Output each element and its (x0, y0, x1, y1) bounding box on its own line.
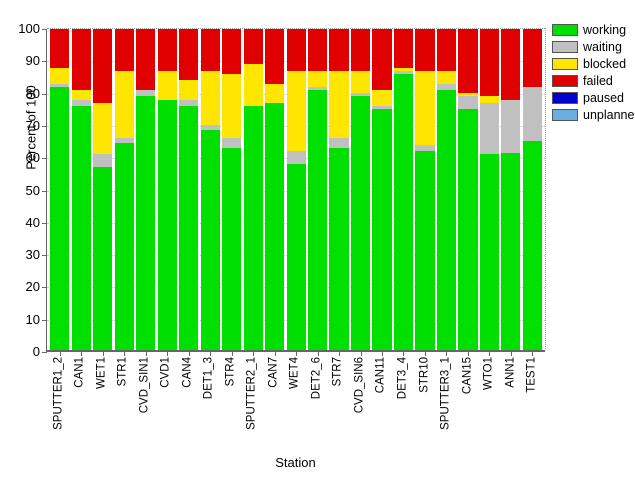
bar-column[interactable] (136, 29, 155, 350)
x-tick-label: WET4 (290, 357, 302, 389)
x-label-cell: WTO1 (480, 357, 499, 457)
x-label-cell: CAN4 (178, 357, 197, 457)
bar-segment-working (50, 87, 69, 350)
bar-segment-working (437, 90, 456, 350)
legend-item-unplanned[interactable]: unplanned (552, 107, 635, 122)
stacked-bar-chart: Percent of 100 0102030405060708090100 SP… (0, 0, 635, 480)
legend: workingwaitingblockedfailedpausedunplann… (552, 22, 635, 122)
bar-column[interactable] (480, 29, 499, 350)
legend-swatch-blocked (552, 58, 578, 70)
bar-segment-blocked (351, 71, 370, 93)
bar-segment-waiting (222, 138, 241, 148)
bar-segment-blocked (50, 68, 69, 85)
bar-segment-failed (437, 29, 456, 71)
x-tick-label: DET2_6 (311, 357, 323, 399)
y-tick-label: 30 (0, 248, 40, 261)
bar-column[interactable] (372, 29, 391, 350)
y-tick-label: 10 (0, 313, 40, 326)
bar-segment-failed (179, 29, 198, 80)
x-label-cell: CVD_SIN6 (350, 357, 369, 457)
x-tick-label: CAN4 (182, 357, 194, 388)
bar-segment-blocked (372, 90, 391, 106)
bar-group (47, 29, 545, 350)
legend-label-failed: failed (583, 74, 613, 88)
bar-column[interactable] (501, 29, 520, 350)
x-tick-label: TEST1 (526, 357, 538, 393)
legend-item-waiting[interactable]: waiting (552, 39, 635, 54)
bar-column[interactable] (158, 29, 177, 350)
x-tick-label: CAN7 (268, 357, 280, 388)
bar-segment-failed (115, 29, 134, 71)
x-label-cell: STR7 (329, 357, 348, 457)
y-tick-label: 80 (0, 87, 40, 100)
bar-segment-failed (265, 29, 284, 84)
x-label-cell: TEST1 (523, 357, 542, 457)
x-tick-mark (511, 351, 512, 356)
bar-segment-failed (523, 29, 542, 87)
x-tick-mark (167, 351, 168, 356)
bar-segment-working (136, 96, 155, 350)
bar-segment-working (480, 154, 499, 350)
x-tick-label: DET3_4 (397, 357, 409, 399)
bar-segment-blocked (265, 84, 284, 103)
bar-segment-working (523, 141, 542, 350)
x-tick-mark (489, 351, 490, 356)
x-tick-mark (146, 351, 147, 356)
bar-segment-blocked (179, 80, 198, 99)
x-tick-mark (81, 351, 82, 356)
x-label-cell: WET1 (92, 357, 111, 457)
x-tick-mark (232, 351, 233, 356)
x-label-cell: DET1_3 (200, 357, 219, 457)
y-tick-label: 50 (0, 184, 40, 197)
bar-column[interactable] (394, 29, 413, 350)
bar-segment-working (201, 130, 220, 350)
x-tick-label: STR10 (419, 357, 431, 393)
x-tick-label: STR4 (225, 357, 237, 386)
legend-swatch-unplanned (552, 109, 578, 121)
bar-column[interactable] (93, 29, 112, 350)
bar-column[interactable] (115, 29, 134, 350)
x-tick-label: CVD1 (161, 357, 173, 388)
plot-area (46, 29, 545, 352)
bar-segment-waiting (458, 96, 477, 109)
bar-segment-failed (415, 29, 434, 71)
bar-segment-blocked (329, 71, 348, 138)
bar-segment-waiting (329, 138, 348, 148)
legend-label-unplanned: unplanned (583, 108, 635, 122)
x-label-cell: DET3_4 (393, 357, 412, 457)
bar-column[interactable] (244, 29, 263, 350)
bar-column[interactable] (523, 29, 542, 350)
legend-item-working[interactable]: working (552, 22, 635, 37)
bar-segment-working (93, 167, 112, 350)
bar-segment-blocked (93, 103, 112, 154)
bar-column[interactable] (179, 29, 198, 350)
x-tick-label: ANN1 (505, 357, 517, 388)
x-label-cell: CAN7 (264, 357, 283, 457)
bar-segment-blocked (415, 71, 434, 145)
x-label-cell: SPUTTER3_1 (436, 357, 455, 457)
legend-item-failed[interactable]: failed (552, 73, 635, 88)
x-tick-label: SPUTTER1_2 (53, 357, 65, 430)
legend-label-blocked: blocked (583, 57, 626, 71)
x-tick-mark (532, 351, 533, 356)
bar-segment-waiting (93, 154, 112, 167)
x-tick-label: CAN1 (75, 357, 87, 388)
bar-segment-blocked (158, 71, 177, 100)
bar-column[interactable] (50, 29, 69, 350)
bar-segment-working (179, 106, 198, 350)
x-tick-mark (210, 351, 211, 356)
bar-column[interactable] (287, 29, 306, 350)
legend-label-paused: paused (583, 91, 624, 105)
bar-segment-working (308, 90, 327, 350)
bar-segment-working (458, 109, 477, 350)
bar-segment-failed (244, 29, 263, 64)
bar-column[interactable] (308, 29, 327, 350)
bar-segment-failed (351, 29, 370, 71)
bar-segment-failed (222, 29, 241, 74)
bar-segment-working (115, 143, 134, 350)
bar-segment-failed (201, 29, 220, 71)
legend-label-waiting: waiting (583, 40, 622, 54)
x-label-cell: CAN1 (71, 357, 90, 457)
y-tick-label: 40 (0, 216, 40, 229)
bar-segment-failed (501, 29, 520, 100)
bar-column[interactable] (415, 29, 434, 350)
x-label-cell: SPUTTER1_2 (49, 357, 68, 457)
bar-segment-blocked (244, 64, 263, 106)
legend-item-blocked[interactable]: blocked (552, 56, 635, 71)
bar-segment-blocked (201, 71, 220, 126)
x-label-cell: CAN11 (372, 357, 391, 457)
bar-segment-failed (136, 29, 155, 90)
x-tick-mark (60, 351, 61, 356)
bar-segment-working (265, 103, 284, 350)
bar-segment-waiting (523, 87, 542, 142)
x-tick-mark (468, 351, 469, 356)
x-tick-mark (361, 351, 362, 356)
bar-segment-failed (329, 29, 348, 71)
y-tick-label: 60 (0, 151, 40, 164)
bar-segment-failed (308, 29, 327, 71)
x-label-cell: STR4 (221, 357, 240, 457)
bar-column[interactable] (351, 29, 370, 350)
bar-segment-failed (394, 29, 413, 68)
bar-segment-failed (458, 29, 477, 93)
bar-segment-blocked (222, 74, 241, 138)
bar-segment-blocked (72, 90, 91, 100)
bar-column[interactable] (437, 29, 456, 350)
x-tick-label: DET1_3 (204, 357, 216, 399)
x-tick-mark (124, 351, 125, 356)
x-tick-mark (275, 351, 276, 356)
x-tick-mark (103, 351, 104, 356)
bar-segment-failed (72, 29, 91, 90)
bar-segment-failed (287, 29, 306, 71)
x-tick-label: CVD_SIN6 (354, 357, 366, 413)
x-label-cell: DET2_6 (307, 357, 326, 457)
y-tick-label: 0 (0, 345, 40, 358)
x-tick-label: SPUTTER3_1 (440, 357, 452, 430)
bar-segment-working (415, 151, 434, 350)
bar-segment-blocked (308, 71, 327, 87)
bar-segment-waiting (287, 151, 306, 164)
bar-segment-blocked (437, 71, 456, 84)
x-label-cell: SPUTTER2_1 (243, 357, 262, 457)
y-tick-mark (42, 352, 47, 353)
legend-swatch-paused (552, 92, 578, 104)
x-tick-mark (403, 351, 404, 356)
bar-segment-failed (372, 29, 391, 90)
x-tick-label: CVD_SIN1 (139, 357, 151, 413)
x-label-cell: WET4 (286, 357, 305, 457)
bar-segment-working (158, 100, 177, 350)
bar-segment-failed (158, 29, 177, 71)
bar-segment-working (329, 148, 348, 350)
bar-segment-working (351, 96, 370, 350)
x-tick-mark (425, 351, 426, 356)
bar-column[interactable] (265, 29, 284, 350)
bar-segment-working (287, 164, 306, 350)
legend-swatch-waiting (552, 41, 578, 53)
bar-segment-blocked (287, 71, 306, 151)
bar-segment-working (372, 109, 391, 350)
bar-segment-working (501, 153, 520, 350)
x-tick-mark (446, 351, 447, 356)
y-tick-label: 90 (0, 54, 40, 67)
bar-segment-waiting (501, 100, 520, 153)
legend-item-paused[interactable]: paused (552, 90, 635, 105)
bar-segment-failed (50, 29, 69, 68)
x-tick-label: WTO1 (483, 357, 495, 390)
x-tick-label: SPUTTER2_1 (247, 357, 259, 430)
legend-swatch-failed (552, 75, 578, 87)
plot-right-border (545, 28, 546, 349)
x-label-cell: STR1 (114, 357, 133, 457)
x-tick-mark (189, 351, 190, 356)
bar-segment-working (244, 106, 263, 350)
legend-label-working: working (583, 23, 626, 37)
bar-segment-working (72, 106, 91, 350)
x-label-cell: CVD_SIN1 (135, 357, 154, 457)
bar-column[interactable] (458, 29, 477, 350)
bar-segment-working (222, 148, 241, 350)
y-tick-label: 20 (0, 280, 40, 293)
bar-column[interactable] (72, 29, 91, 350)
x-label-cell: STR10 (415, 357, 434, 457)
x-label-cell: CAN15 (458, 357, 477, 457)
x-tick-label: STR1 (118, 357, 130, 386)
x-tick-label: CAN15 (462, 357, 474, 394)
bar-segment-failed (93, 29, 112, 103)
x-tick-label: WET1 (96, 357, 108, 389)
bar-segment-waiting (480, 103, 499, 154)
legend-swatch-working (552, 24, 578, 36)
x-label-cell: ANN1 (501, 357, 520, 457)
x-tick-mark (253, 351, 254, 356)
y-tick-label: 100 (0, 22, 40, 35)
x-tick-mark (382, 351, 383, 356)
x-axis-labels: SPUTTER1_2CAN1WET1STR1CVD_SIN1CVD1CAN4DE… (46, 357, 545, 457)
x-label-cell: CVD1 (157, 357, 176, 457)
bar-column[interactable] (222, 29, 241, 350)
y-tick-label: 70 (0, 119, 40, 132)
x-tick-label: CAN11 (376, 357, 388, 393)
bar-segment-failed (480, 29, 499, 96)
bar-column[interactable] (329, 29, 348, 350)
bar-segment-blocked (115, 71, 134, 138)
x-tick-mark (318, 351, 319, 356)
x-tick-mark (339, 351, 340, 356)
x-tick-label: STR7 (333, 357, 345, 386)
x-tick-mark (296, 351, 297, 356)
bar-segment-working (394, 74, 413, 350)
bar-column[interactable] (201, 29, 220, 350)
x-axis-title: Station (46, 455, 545, 470)
